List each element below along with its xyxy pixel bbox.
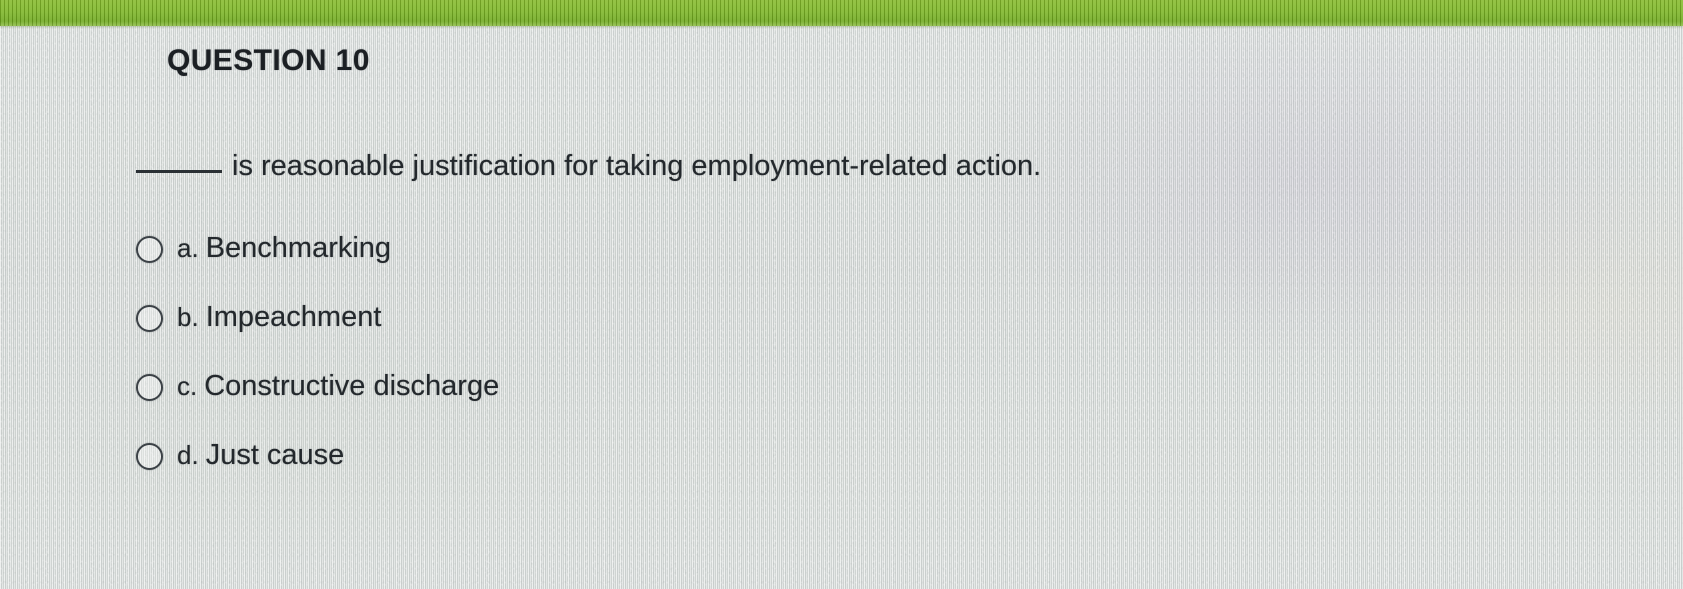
option-a-text: Benchmarking (206, 232, 391, 264)
option-b-letter: b. (177, 302, 199, 332)
radio-button-icon-c[interactable] (136, 374, 163, 401)
question-page: QUESTION 10 is reasonable justification … (0, 0, 1683, 589)
option-d-label: d.Just cause (177, 439, 344, 472)
option-d[interactable]: d.Just cause (136, 421, 1136, 490)
answer-options-list: a.Benchmarking b.Impeachment c.Construct… (136, 214, 1136, 490)
option-c-text: Constructive discharge (204, 370, 499, 402)
green-accent-bar (0, 0, 1683, 26)
option-c-letter: c. (177, 371, 197, 401)
question-stem-text: is reasonable justification for taking e… (232, 150, 1041, 182)
option-a[interactable]: a.Benchmarking (136, 214, 1136, 283)
option-b-label: b.Impeachment (177, 301, 381, 334)
option-b-text: Impeachment (206, 301, 382, 333)
radio-button-icon-b[interactable] (136, 305, 163, 332)
option-d-text: Just cause (206, 439, 345, 471)
option-c[interactable]: c.Constructive discharge (136, 352, 1136, 421)
radio-button-icon-a[interactable] (136, 236, 163, 263)
question-stem: is reasonable justification for taking e… (136, 148, 1041, 183)
option-c-label: c.Constructive discharge (177, 370, 499, 403)
option-b[interactable]: b.Impeachment (136, 283, 1136, 352)
option-a-label: a.Benchmarking (177, 232, 391, 265)
option-a-letter: a. (177, 233, 199, 263)
radio-button-icon-d[interactable] (136, 443, 163, 470)
fill-in-blank (136, 148, 222, 173)
option-d-letter: d. (177, 440, 199, 470)
page-title: QUESTION 10 (167, 44, 370, 78)
question-content: QUESTION 10 is reasonable justification … (0, 26, 1683, 589)
